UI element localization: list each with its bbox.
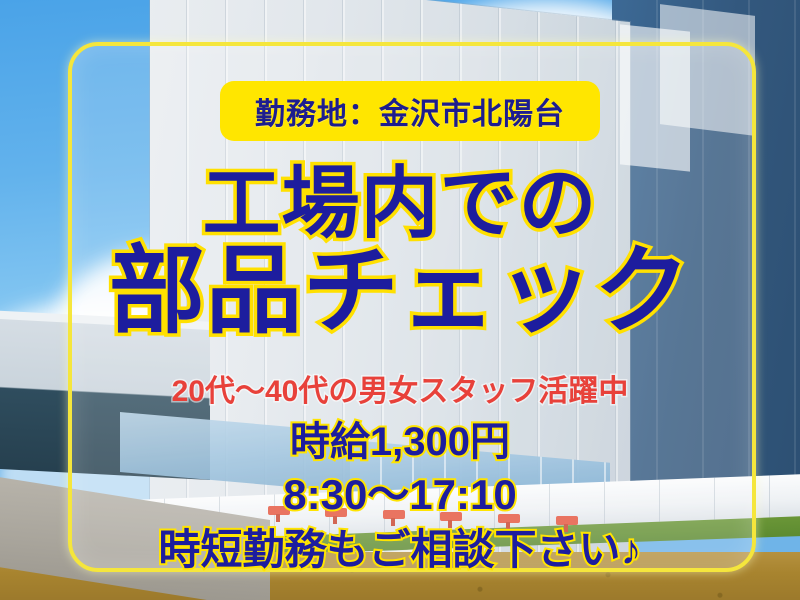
headline-line-1: 工場内での	[0, 166, 800, 241]
poster-content: 勤務地：金沢市北陽台 工場内での 部品チェック 20代〜40代の男女スタッフ活躍…	[0, 0, 800, 600]
sub-headline: 20代〜40代の男女スタッフ活躍中	[0, 366, 800, 410]
working-hours: 8:30〜17:10	[0, 461, 800, 522]
hourly-wage: 時給1,300円	[0, 409, 800, 467]
location-badge: 勤務地：金沢市北陽台	[220, 81, 600, 141]
short-hours-note: 時短勤務もご相談下さい♪	[0, 516, 800, 577]
headline-line-2: 部品チェック	[0, 246, 800, 338]
